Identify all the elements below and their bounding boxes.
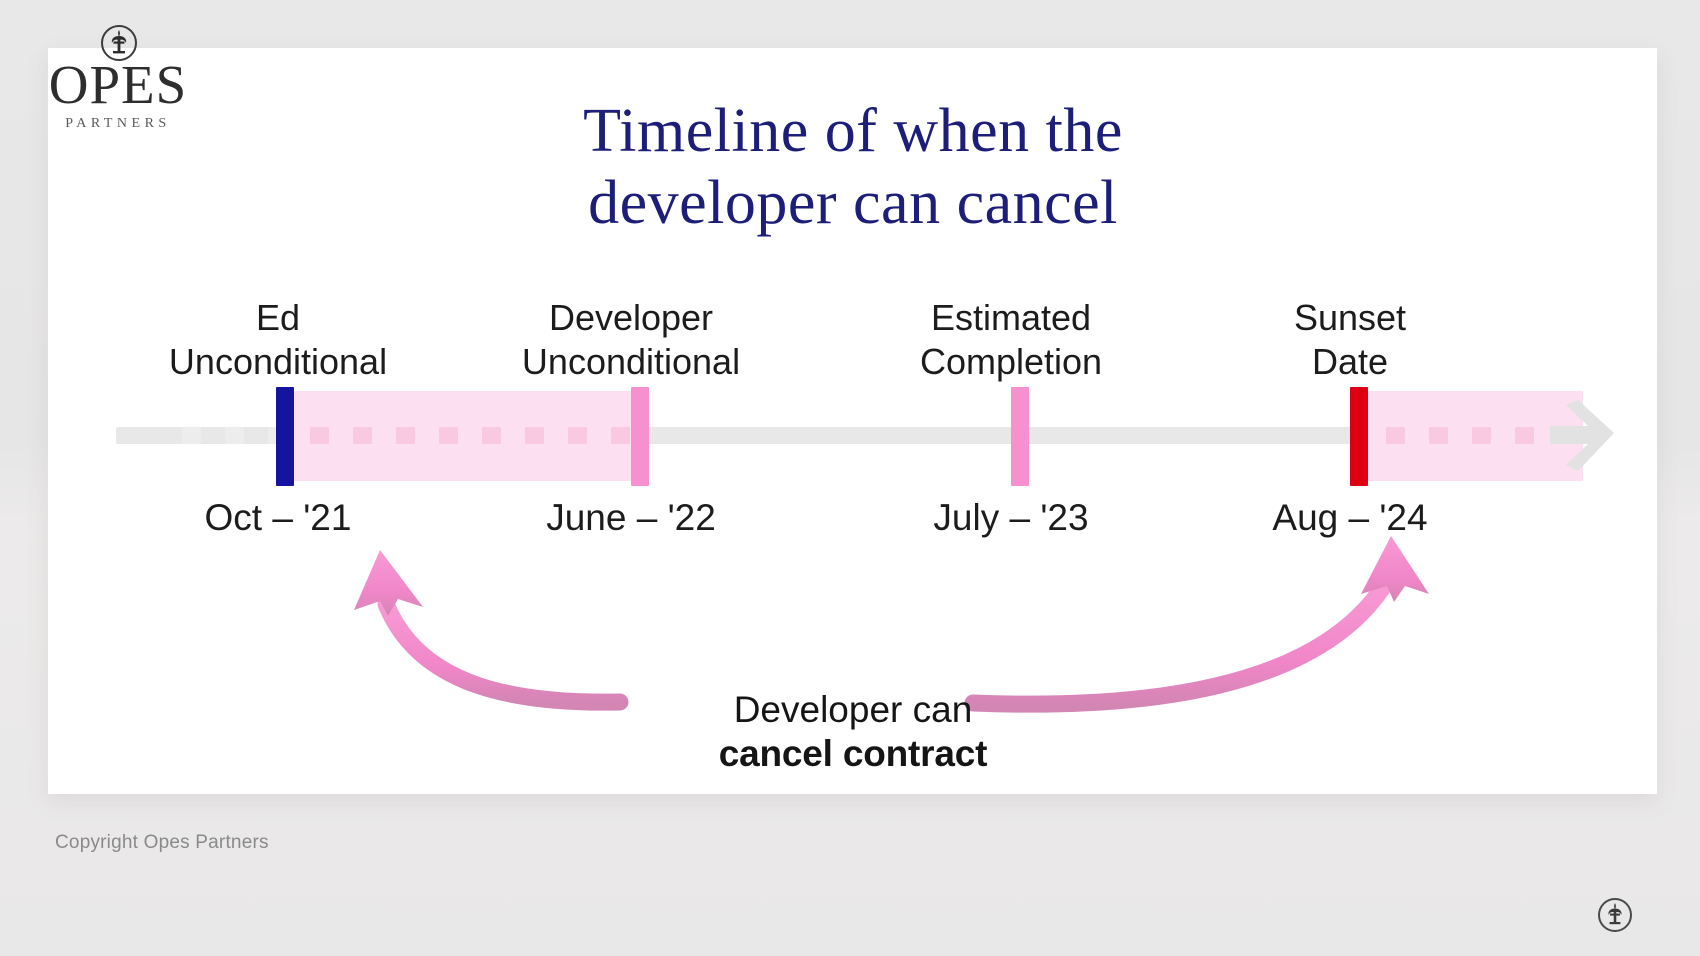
- milestone-marker-developer-unconditional[interactable]: [631, 387, 649, 486]
- logo-subtitle: PARTNERS: [28, 116, 208, 132]
- copyright-text: Copyright Opes Partners: [55, 832, 269, 854]
- milestone-marker-ed-unconditional[interactable]: [276, 387, 294, 486]
- timeline-dashes-band-1: [310, 427, 630, 444]
- milestone-marker-sunset-date[interactable]: [1350, 387, 1368, 486]
- dash: [482, 427, 501, 444]
- dash: [1386, 427, 1405, 444]
- page-title: Timeline of when the developer can cance…: [348, 95, 1358, 239]
- opes-partners-logo: OPES PARTNERS: [28, 24, 208, 134]
- callout-line-1: Developer can: [603, 688, 1103, 732]
- dash: [225, 427, 244, 444]
- dash: [353, 427, 372, 444]
- dash: [182, 427, 201, 444]
- dash: [1515, 427, 1534, 444]
- milestone-label-ed-unconditional: Ed Unconditional: [88, 296, 468, 384]
- dash: [611, 427, 630, 444]
- milestone-label-sunset-date: Sunset Date: [1170, 296, 1530, 384]
- dash: [439, 427, 458, 444]
- footer-fleur-de-lis-circle-icon: [1596, 896, 1634, 934]
- dash: [310, 427, 329, 444]
- slide-backdrop: Timeline of when the developer can cance…: [0, 0, 1700, 956]
- timeline-dashes-leading: [182, 427, 287, 444]
- title-line-2: developer can cancel: [348, 167, 1358, 239]
- dash: [568, 427, 587, 444]
- timeline-graphic: Ed Unconditional Developer Unconditional…: [48, 296, 1657, 596]
- dash: [525, 427, 544, 444]
- dash: [396, 427, 415, 444]
- callout-text: Developer can cancel contract: [603, 688, 1103, 776]
- milestone-date-ed-unconditional: Oct – '21: [98, 496, 458, 540]
- logo-wordmark: OPES: [28, 56, 208, 114]
- milestone-date-sunset-date: Aug – '24: [1170, 496, 1530, 540]
- milestone-label-estimated-completion: Estimated Completion: [831, 296, 1191, 384]
- title-line-1: Timeline of when the: [348, 95, 1358, 167]
- dash: [1429, 427, 1448, 444]
- presentation-slide: Timeline of when the developer can cance…: [48, 48, 1657, 794]
- timeline-end-arrow-icon: [1548, 398, 1618, 474]
- callout-line-2: cancel contract: [603, 732, 1103, 776]
- milestone-date-estimated-completion: July – '23: [831, 496, 1191, 540]
- dash: [1472, 427, 1491, 444]
- milestone-label-developer-unconditional: Developer Unconditional: [441, 296, 821, 384]
- milestone-date-developer-unconditional: June – '22: [451, 496, 811, 540]
- milestone-marker-estimated-completion[interactable]: [1011, 387, 1029, 486]
